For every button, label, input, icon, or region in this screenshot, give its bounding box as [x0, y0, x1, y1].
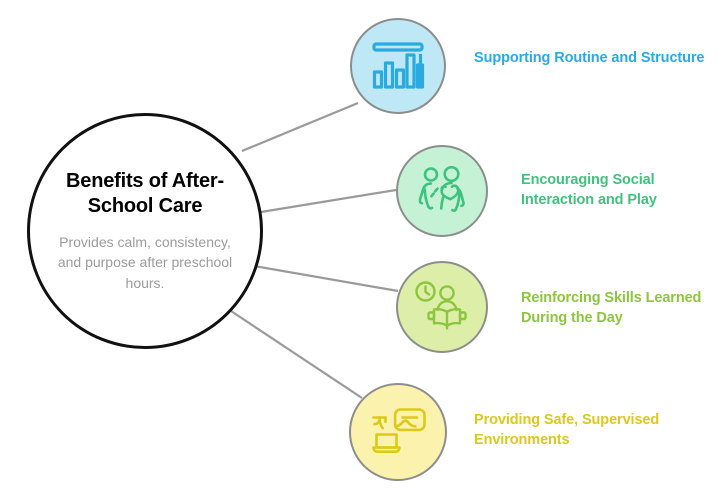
- connector-line-3: [254, 266, 398, 291]
- goggles-desk-icon: [369, 406, 427, 458]
- connector-line-4: [231, 311, 362, 398]
- desk-monitor: [377, 435, 397, 448]
- node-3-label: Reinforcing Skills Learned During the Da…: [521, 288, 718, 328]
- node-1-label: Supporting Routine and Structure: [474, 48, 714, 68]
- node-3-bubble[interactable]: [396, 261, 488, 353]
- node-4-label: Providing Safe, Supervised Environments: [474, 410, 684, 450]
- bar-chart-icon: [370, 41, 426, 91]
- diagram-canvas: Benefits of After-School Care Provides c…: [0, 0, 718, 501]
- two-people-heart-icon: [416, 166, 468, 216]
- hub-description: Provides calm, consistency, and purpose …: [54, 232, 236, 293]
- hub-title: Benefits of After-School Care: [54, 169, 236, 218]
- connector-line-2: [261, 190, 396, 212]
- clock-person-reading-icon: [414, 281, 470, 333]
- reader-head: [440, 286, 453, 299]
- node-1-bubble[interactable]: [350, 18, 446, 114]
- node-2-bubble[interactable]: [396, 145, 488, 237]
- connector-line-1: [242, 103, 358, 151]
- node-2-label: Encouraging Social Interaction and Play: [521, 170, 718, 210]
- node-4-bubble[interactable]: [349, 383, 447, 481]
- hub-circle[interactable]: Benefits of After-School Care Provides c…: [27, 113, 263, 349]
- goggles-outline: [395, 410, 424, 430]
